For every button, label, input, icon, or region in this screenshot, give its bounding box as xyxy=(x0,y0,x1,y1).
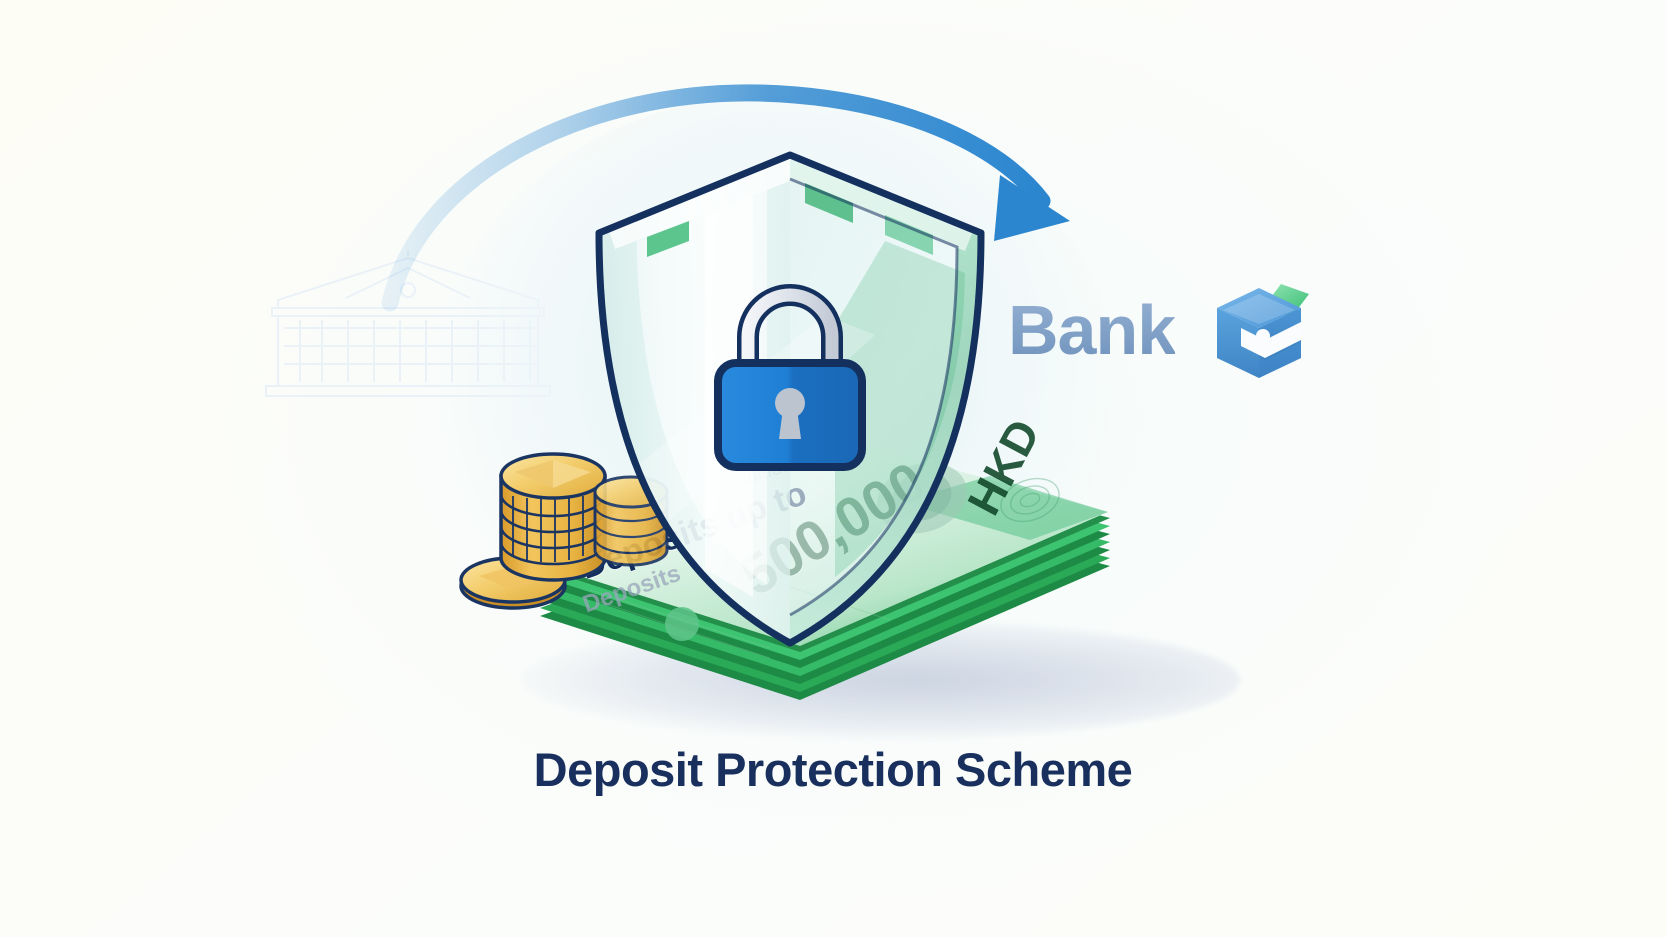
bank-wordmark: Bank xyxy=(1008,295,1175,365)
bank-cube-logo xyxy=(1197,270,1317,390)
page-title: Deposit Protection Scheme xyxy=(0,742,1666,797)
padlock-icon xyxy=(700,275,880,475)
illustration-canvas: Traditional letters Deposits up to Depos… xyxy=(0,0,1666,937)
bank-brand: Bank xyxy=(1008,270,1317,390)
